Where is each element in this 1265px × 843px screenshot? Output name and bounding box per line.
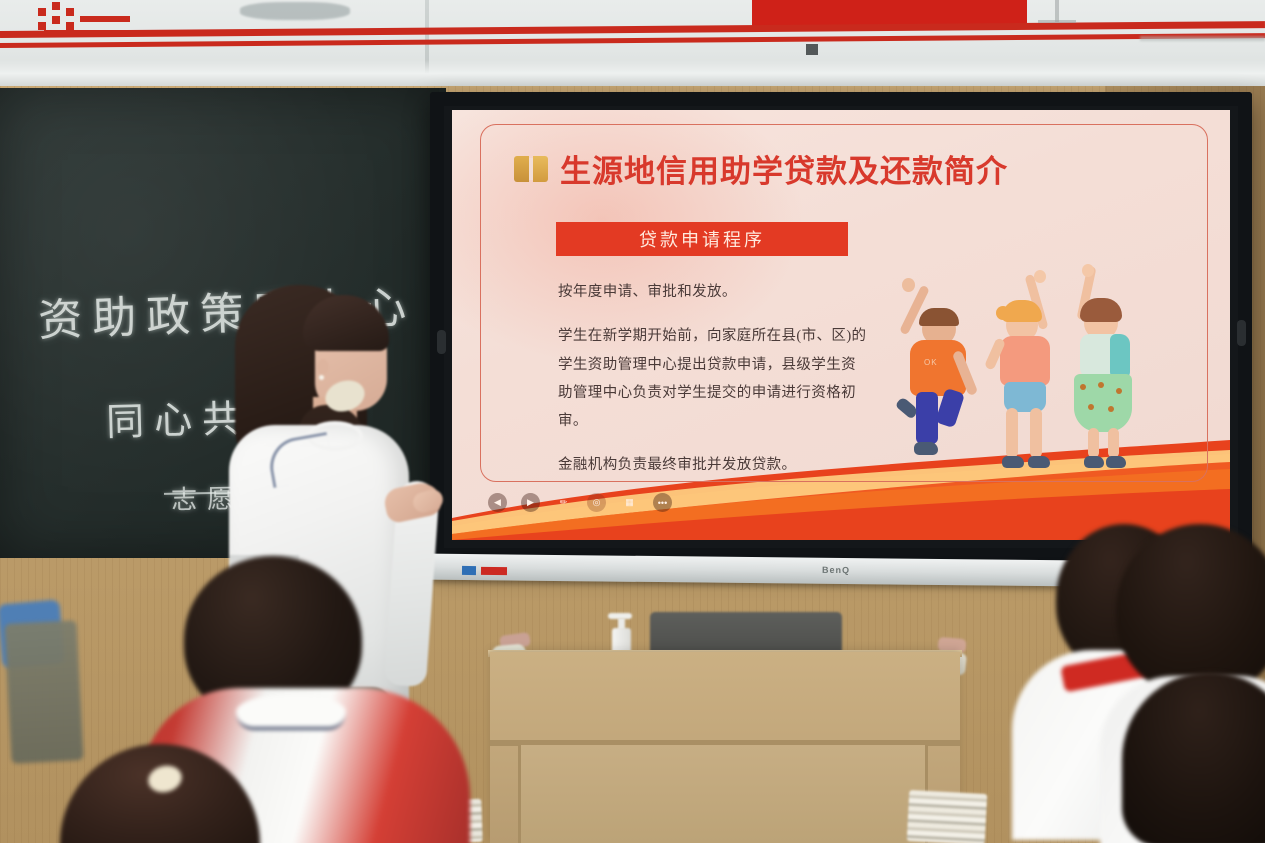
lectern-front-panel [518, 745, 928, 843]
display-sensor-right [1237, 320, 1246, 346]
display-brand-label: BenQ [822, 565, 850, 575]
previous-slide-icon[interactable]: ◀ [488, 493, 507, 512]
open-book-icon [514, 156, 548, 182]
illustration-child-1: OK [888, 278, 980, 468]
display-sticker-red [481, 567, 507, 575]
presenter-ear [317, 359, 329, 375]
illustration-three-jumping-children: OK [882, 260, 1122, 490]
slide-paragraph-2: 学生在新学期开始前，向家庭所在县(市、区)的学生资助管理中心提出贷款申请，县级学… [558, 322, 870, 435]
ceiling-fixture-a [806, 44, 818, 55]
student-right-c [1122, 672, 1265, 843]
illustration-child-3 [1058, 264, 1138, 470]
presentation-slide[interactable]: 生源地信用助学贷款及还款简介 贷款申请程序 按年度申请、审批和发放。 学生在新学… [452, 110, 1230, 540]
slideshow-toolbar[interactable]: ◀ ▶ ✏ ◎ ▦ ••• [488, 493, 672, 512]
illustration-child-2 [978, 270, 1068, 470]
ceiling-fixture-c [1038, 20, 1076, 23]
slide-paragraph-3: 金融机构负责最终审批并发放贷款。 [558, 451, 870, 479]
slide-title-row: 生源地信用助学贷款及还款简介 [514, 146, 1008, 191]
classroom-scene: 资助政策暖人心 同心共筑梦 志愿服务团 [0, 0, 1265, 843]
student-head [60, 744, 260, 843]
student-collar [236, 694, 346, 730]
chinese-knot-ornament-icon [38, 2, 130, 38]
section-banner: 贷款申请程序 [556, 222, 848, 256]
pen-tool-icon[interactable]: ✏ [554, 493, 573, 512]
laser-pointer-icon[interactable]: ◎ [587, 493, 606, 512]
student-head [1116, 524, 1265, 696]
slide-body: 按年度申请、审批和发放。 学生在新学期开始前，向家庭所在县(市、区)的学生资助管… [558, 278, 870, 496]
slide-title: 生源地信用助学贷款及还款简介 [560, 146, 1008, 191]
student-head [1122, 672, 1265, 843]
next-slide-icon[interactable]: ▶ [521, 493, 540, 512]
presenter-earring [319, 375, 324, 380]
student-front-bottom-left [30, 744, 310, 843]
slide-grid-icon[interactable]: ▦ [620, 493, 639, 512]
slide-paragraph-1: 按年度申请、审批和发放。 [558, 278, 870, 306]
section-banner-label: 贷款申请程序 [639, 226, 765, 252]
more-options-icon[interactable]: ••• [653, 493, 672, 512]
chair [4, 620, 83, 764]
ceiling-smudge [240, 2, 350, 20]
ceiling-fixture-b [1055, 0, 1059, 22]
ceiling-pipe [1140, 36, 1265, 41]
stacked-books-right [907, 790, 988, 843]
display-screen[interactable]: 生源地信用助学贷款及还款简介 贷款申请程序 按年度申请、审批和发放。 学生在新学… [452, 110, 1230, 540]
